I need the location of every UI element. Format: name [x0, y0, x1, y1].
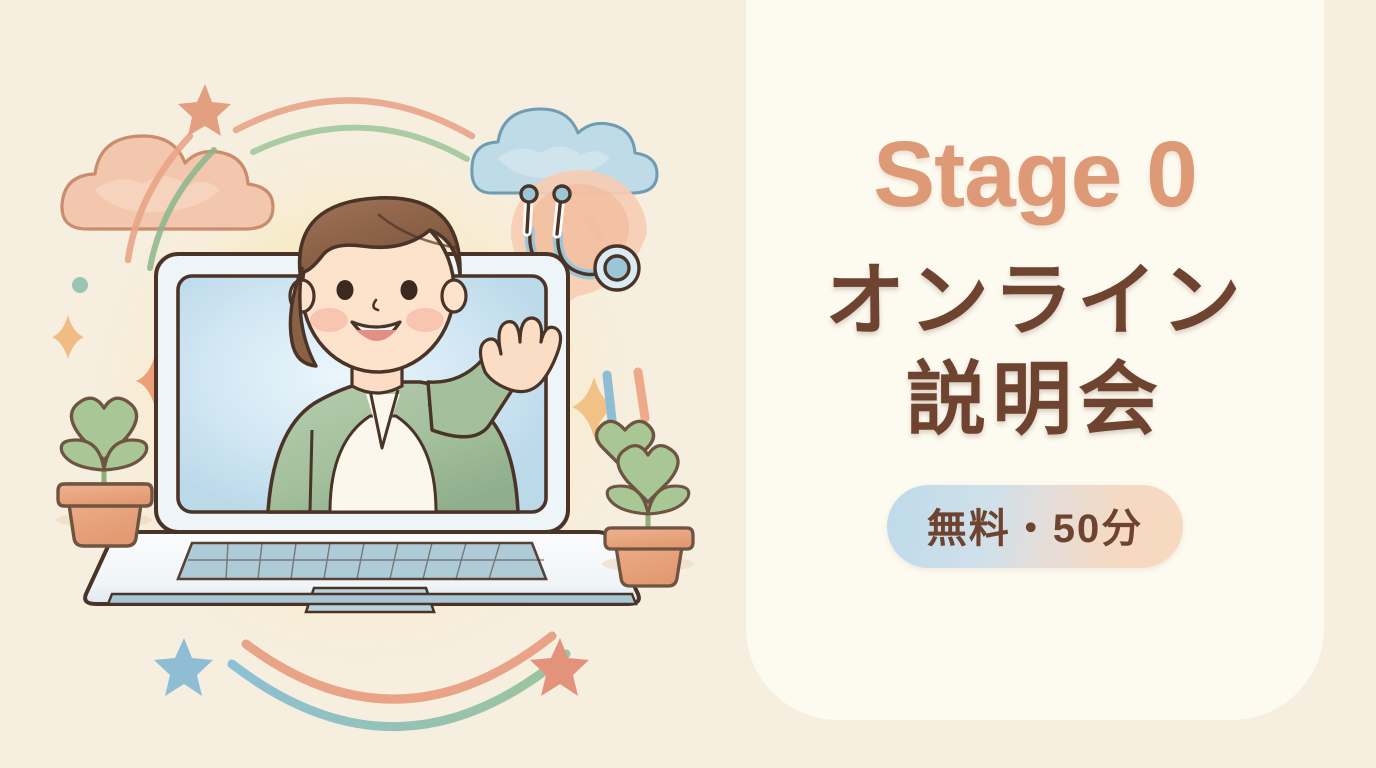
title-line-2: 説明会 [906, 354, 1164, 445]
keyboard [178, 543, 546, 579]
text-card: Stage 0 オンライン 説明会 無料・50分 [746, 0, 1324, 720]
eye-left [337, 280, 354, 300]
price-duration-badge: 無料・50分 [887, 485, 1184, 568]
dot-teal [72, 277, 88, 293]
promo-banner: Stage 0 オンライン 説明会 無料・50分 [0, 0, 1376, 768]
stage-label: Stage 0 [873, 128, 1197, 221]
title-line-1: オンライン [825, 255, 1245, 346]
online-consultation-illustration [0, 0, 748, 768]
eye-right [401, 280, 418, 300]
